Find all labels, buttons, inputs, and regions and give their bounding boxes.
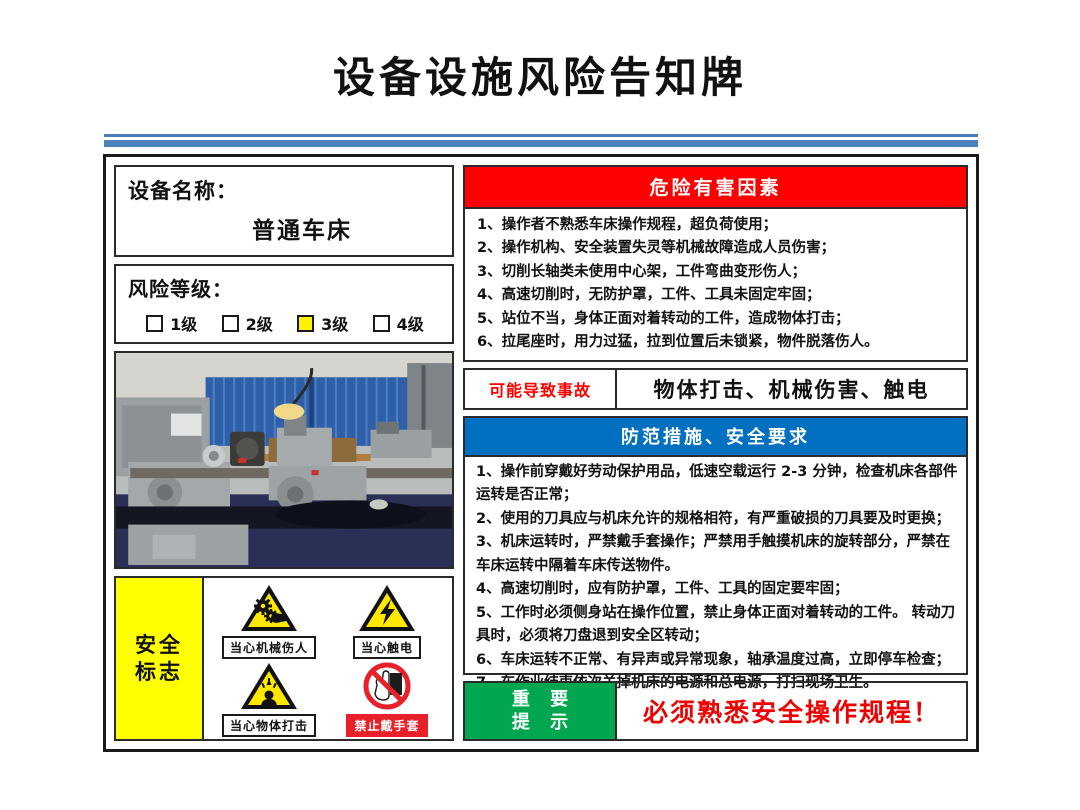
hazard-factors-header: 危险有害因素 bbox=[465, 167, 966, 209]
safety-signs-box: 安全 标志 bbox=[114, 576, 454, 741]
important-notice-label-line2: 提 示 bbox=[505, 712, 575, 734]
safety-sign-electric-shock: 当心触电 bbox=[328, 582, 446, 660]
possible-accident-row: 可能导致事故 物体打击、机械伤害、触电 bbox=[463, 368, 968, 410]
measure-item: 4、高速切削时，应有防护罩，工件、工具的固定要牢固； bbox=[476, 578, 959, 601]
lathe-photo-illustration bbox=[116, 353, 452, 567]
important-notice-row: 重 要 提 示 必须熟悉安全操作规程！ bbox=[463, 681, 968, 741]
measure-item: 5、工作时必须侧身站在操作位置，禁止身体正面对着转动的工件。 转动刀具时，必须将… bbox=[476, 602, 959, 649]
equipment-name-box: 设备名称： 普通车床 bbox=[114, 165, 454, 257]
risk-option-label-1: 1级 bbox=[170, 311, 197, 335]
safety-sign-caption-4: 禁止戴手套 bbox=[346, 714, 427, 737]
safety-sign-caption-2: 当心触电 bbox=[353, 636, 421, 659]
warning-falling-object-icon bbox=[240, 660, 298, 712]
hazard-item: 4、高速切削时，无防护罩，工件、工具未固定牢固； bbox=[477, 284, 958, 307]
risk-level-options: 1级 2级 3级 4级 bbox=[128, 311, 442, 335]
warning-gears-icon bbox=[240, 582, 298, 634]
safety-sign-no-gloves: 禁止戴手套 bbox=[328, 660, 446, 738]
risk-option-label-4: 4级 bbox=[397, 311, 424, 335]
prevention-measures-box: 防范措施、安全要求 1、操作前穿戴好劳动保护用品，低速空载运行 2-3 分钟，检… bbox=[463, 416, 968, 675]
measure-item: 6、车床运转不正常、有异声或异常现象，轴承温度过高，立即停车检查； bbox=[476, 649, 959, 672]
left-column: 设备名称： 普通车床 风险等级： 1级 2级 3级 bbox=[114, 165, 454, 741]
risk-option-label-3: 3级 bbox=[321, 311, 348, 335]
safety-signs-title-line2: 标志 bbox=[135, 660, 183, 684]
important-notice-label: 重 要 提 示 bbox=[465, 683, 617, 739]
risk-checkbox-4[interactable] bbox=[373, 315, 390, 332]
safety-signs-title: 安全 标志 bbox=[116, 578, 204, 739]
risk-option-2[interactable]: 2级 bbox=[222, 311, 273, 335]
header-divider bbox=[104, 134, 978, 147]
risk-level-label: 风险等级： bbox=[128, 273, 442, 302]
hazard-item: 3、切削长轴类未使用中心架，工件弯曲变形伤人； bbox=[477, 261, 958, 284]
equipment-photo bbox=[114, 351, 454, 569]
measure-item: 2、使用的刀具应与机床允许的规格相符，有严重破损的刀具要及时更换； bbox=[476, 508, 959, 531]
risk-checkbox-1[interactable] bbox=[146, 315, 163, 332]
risk-option-4[interactable]: 4级 bbox=[373, 311, 424, 335]
hazard-item: 5、站位不当，身体正面对着转动的工件，造成物体打击； bbox=[477, 308, 958, 331]
risk-level-box: 风险等级： 1级 2级 3级 bbox=[114, 264, 454, 344]
risk-notice-board: 设备设施风险告知牌 设备名称： 普通车床 风险等级： 1级 bbox=[0, 0, 1080, 810]
safety-sign-mechanical-injury: 当心机械伤人 bbox=[210, 582, 328, 660]
page-title: 设备设施风险告知牌 bbox=[0, 44, 1080, 105]
safety-sign-caption-3: 当心物体打击 bbox=[222, 714, 316, 737]
prevention-measures-header: 防范措施、安全要求 bbox=[465, 418, 966, 457]
hazard-item: 6、拉尾座时，用力过猛，拉到位置后未锁紧，物件脱落伤人。 bbox=[477, 331, 958, 354]
risk-option-1[interactable]: 1级 bbox=[146, 311, 197, 335]
hazard-factors-list: 1、操作者不熟悉车床操作规程，超负荷使用； 2、操作机构、安全装置失灵等机械故障… bbox=[465, 209, 966, 360]
risk-option-label-2: 2级 bbox=[246, 311, 273, 335]
important-notice-label-line1: 重 要 bbox=[505, 689, 575, 711]
risk-checkbox-2[interactable] bbox=[222, 315, 239, 332]
board-frame: 设备名称： 普通车床 风险等级： 1级 2级 3级 bbox=[103, 154, 979, 752]
divider-thick-bar bbox=[104, 140, 978, 147]
hazard-item: 1、操作者不熟悉车床操作规程，超负荷使用； bbox=[477, 214, 958, 237]
risk-checkbox-3[interactable] bbox=[297, 315, 314, 332]
equipment-name-label: 设备名称： bbox=[128, 175, 440, 205]
hazard-item: 2、操作机构、安全装置失灵等机械故障造成人员伤害； bbox=[477, 237, 958, 260]
hazard-factors-box: 危险有害因素 1、操作者不熟悉车床操作规程，超负荷使用； 2、操作机构、安全装置… bbox=[463, 165, 968, 362]
measure-item: 1、操作前穿戴好劳动保护用品，低速空载运行 2-3 分钟，检查机床各部件运转是否… bbox=[476, 461, 959, 508]
important-notice-value: 必须熟悉安全操作规程！ bbox=[617, 683, 966, 739]
safety-sign-caption-1: 当心机械伤人 bbox=[222, 636, 316, 659]
possible-accident-label: 可能导致事故 bbox=[465, 370, 617, 408]
prohibit-gloves-icon bbox=[359, 660, 415, 712]
safety-signs-title-line1: 安全 bbox=[135, 633, 183, 657]
safety-sign-falling-object: 当心物体打击 bbox=[210, 660, 328, 738]
prevention-measures-list: 1、操作前穿戴好劳动保护用品，低速空载运行 2-3 分钟，检查机床各部件运转是否… bbox=[465, 457, 966, 698]
equipment-name-value: 普通车床 bbox=[116, 211, 452, 245]
warning-electric-shock-icon bbox=[358, 582, 416, 634]
risk-option-3[interactable]: 3级 bbox=[297, 311, 348, 335]
safety-signs-grid: 当心机械伤人 当心触电 bbox=[204, 578, 452, 739]
measure-item: 3、机床运转时，严禁戴手套操作；严禁用手触摸机床的旋转部分，严禁在车床运转中隔着… bbox=[476, 531, 959, 578]
right-column: 危险有害因素 1、操作者不熟悉车床操作规程，超负荷使用； 2、操作机构、安全装置… bbox=[463, 165, 968, 741]
possible-accident-value: 物体打击、机械伤害、触电 bbox=[617, 370, 966, 408]
